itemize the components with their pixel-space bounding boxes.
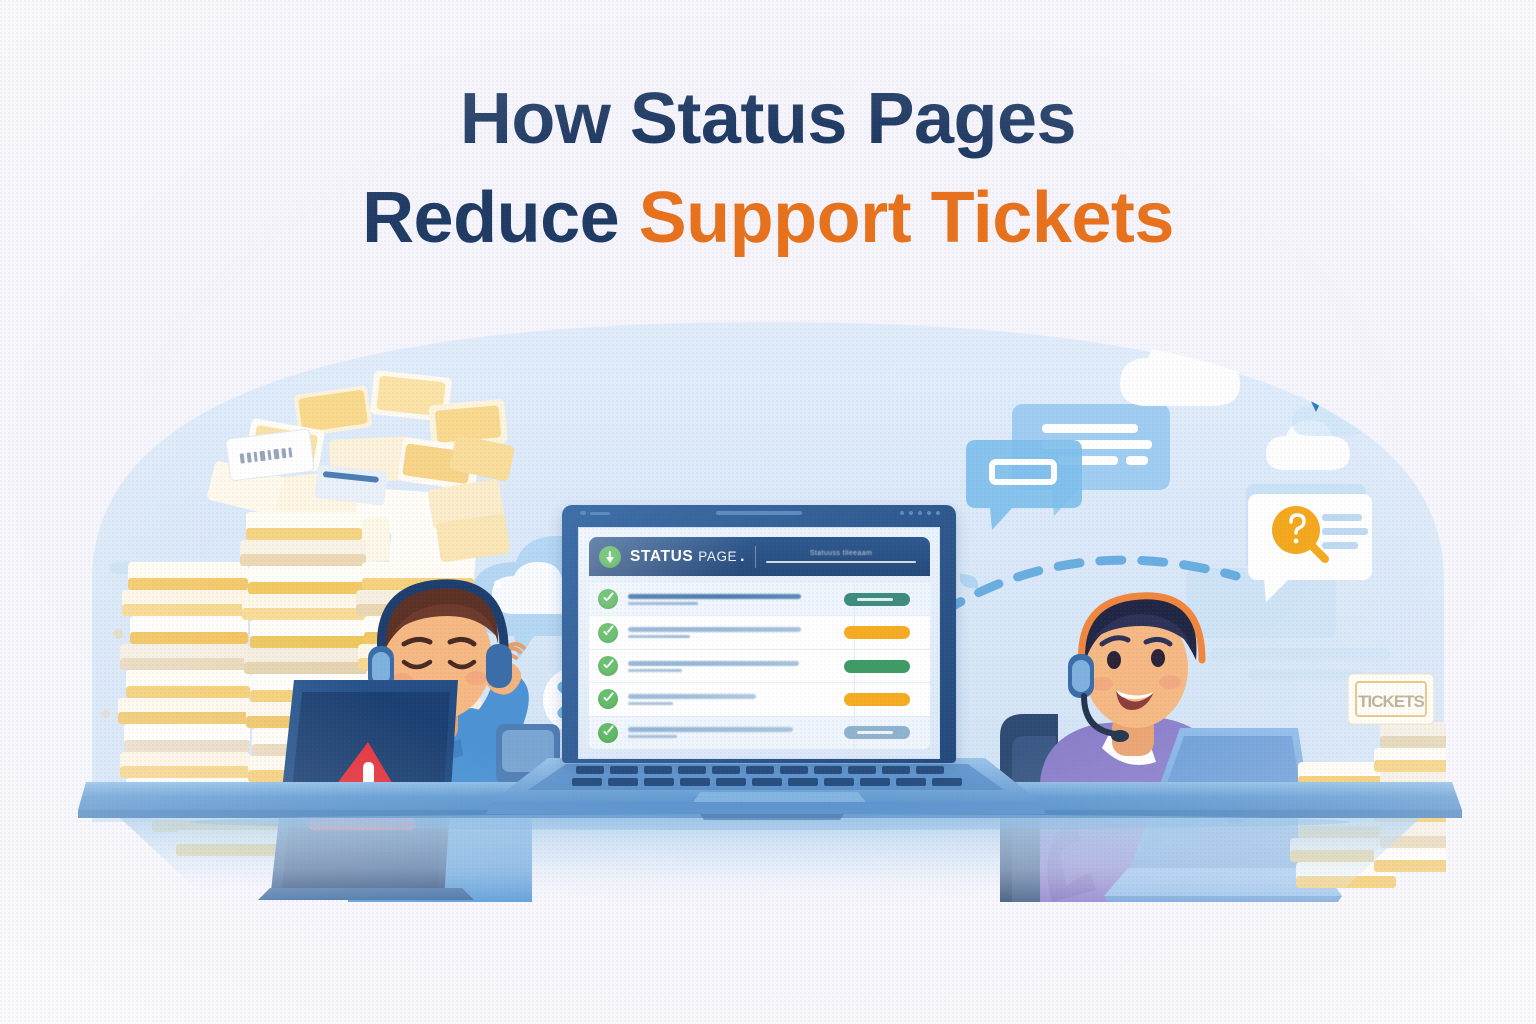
download-circle-icon	[599, 546, 621, 568]
status-page-brand: STATUS PAGE.	[630, 548, 745, 566]
lid-hinge-strip	[716, 511, 802, 515]
header-rule	[766, 561, 916, 563]
tickets-box-label: TICKETS	[1348, 674, 1434, 724]
status-badge	[844, 693, 910, 706]
status-cell	[834, 626, 920, 639]
lid-right-dots	[900, 511, 940, 515]
brand-light: PAGE	[698, 549, 737, 564]
plane-badge-glyph: Y	[1313, 318, 1335, 349]
check-circle-icon	[598, 589, 618, 609]
header-ghost-text: Statuuss tlleeaam	[766, 550, 916, 557]
row-text-placeholder	[628, 661, 834, 672]
header-divider	[755, 546, 756, 568]
center-laptop-base	[486, 758, 1046, 820]
status-badge	[844, 626, 910, 639]
check-circle-icon	[598, 623, 618, 643]
status-badge	[844, 726, 910, 739]
table-row[interactable]	[589, 616, 930, 649]
status-page-rows	[589, 583, 930, 749]
table-row[interactable]	[589, 717, 930, 749]
brand-strong: STATUS	[630, 548, 693, 565]
title-line-2-prefix: Reduce	[362, 178, 639, 258]
title-line-2: Reduce Support Tickets	[0, 169, 1536, 268]
arrow-tip-icon	[1222, 328, 1268, 362]
tickets-label-text: TICKETS	[1358, 692, 1424, 711]
check-circle-icon	[598, 723, 618, 743]
brand-dot: .	[740, 548, 745, 565]
status-cell	[834, 593, 920, 606]
row-text-placeholder	[628, 727, 834, 738]
row-text-placeholder	[628, 694, 834, 705]
status-badge	[844, 593, 910, 606]
check-circle-icon	[598, 689, 618, 709]
title-line-2-accent: Support Tickets	[639, 178, 1174, 258]
status-badge	[844, 660, 910, 673]
row-text-placeholder	[628, 627, 834, 638]
paper-plane-icon: Y	[1296, 308, 1416, 412]
row-text-placeholder	[628, 594, 834, 605]
status-page-header: STATUS PAGE. Statuuss tlleeaam	[589, 537, 930, 576]
table-row[interactable]	[589, 683, 930, 716]
status-cell	[834, 726, 920, 739]
status-cell	[834, 693, 920, 706]
lid-left-marks	[580, 511, 610, 515]
header-secondary: Statuuss tlleeaam	[766, 550, 920, 563]
title-line-1: How Status Pages	[0, 70, 1536, 169]
table-row[interactable]	[589, 650, 930, 683]
table-row[interactable]	[589, 583, 930, 616]
page-title: How Status Pages Reduce Support Tickets	[0, 70, 1536, 269]
status-cell	[834, 660, 920, 673]
status-page-screen[interactable]: STATUS PAGE. Statuuss tlleeaam	[578, 527, 940, 759]
check-circle-icon	[598, 656, 618, 676]
